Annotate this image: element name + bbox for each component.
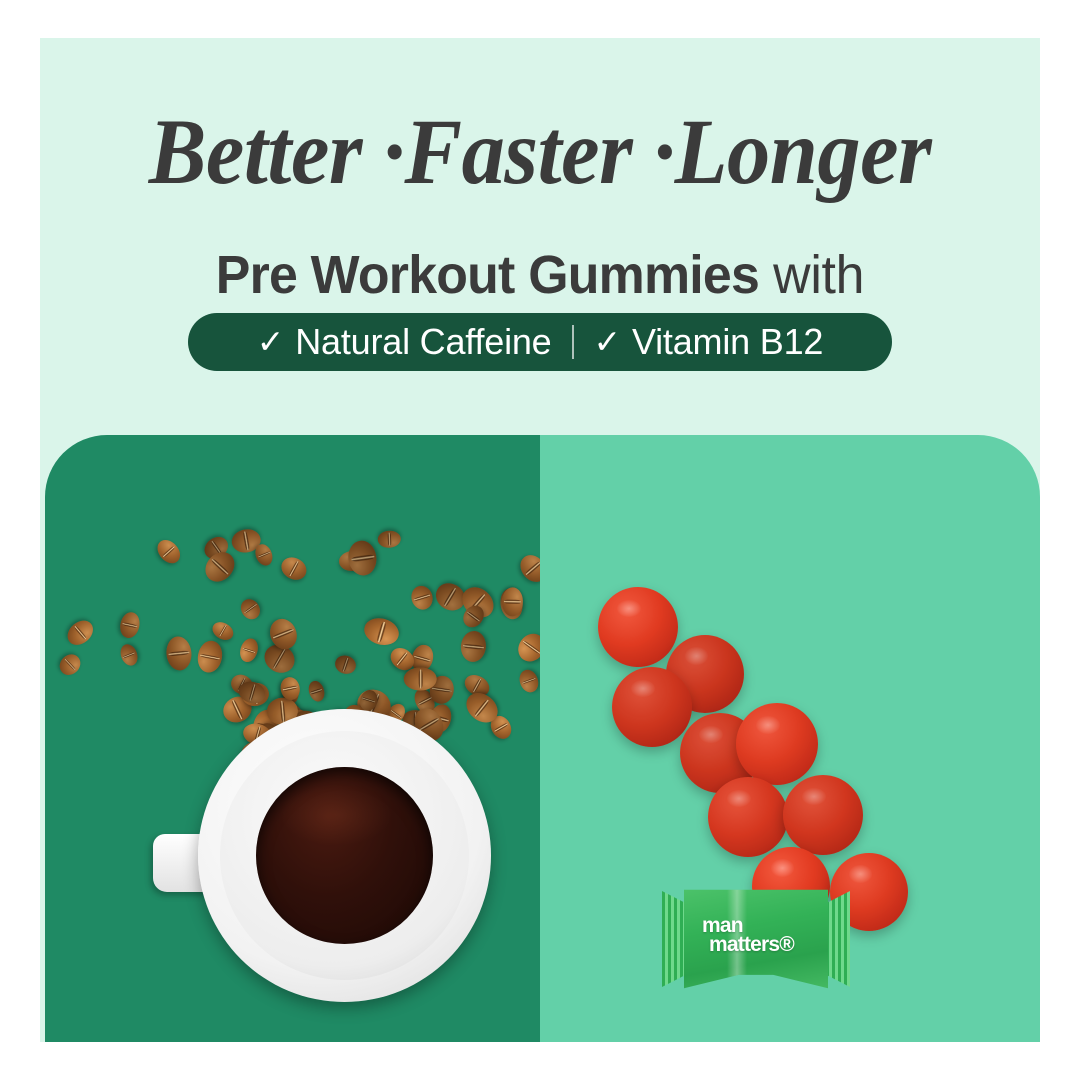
- advertisement-creative: Better ·Faster ·Longer Pre Workout Gummi…: [40, 38, 1040, 1042]
- coffee-bean: [118, 610, 142, 639]
- coffee-bean: [512, 628, 540, 666]
- coffee-bean: [237, 636, 260, 664]
- coffee-bean: [501, 587, 523, 616]
- check-icon: ✓: [594, 325, 621, 358]
- coffee-bean: [361, 615, 402, 649]
- benefit-label-caffeine: Natural Caffeine: [295, 321, 551, 363]
- coffee-liquid: [256, 767, 433, 944]
- coffee-bean: [346, 538, 379, 576]
- brand-logo: man matters®: [702, 916, 820, 955]
- coffee-cup: [198, 709, 491, 1002]
- gummy-candy: [736, 703, 818, 785]
- coffee-bean: [377, 531, 401, 549]
- benefit-item-caffeine: ✓ Natural Caffeine: [257, 321, 552, 363]
- coffee-bean: [195, 639, 224, 674]
- gummy-candy: [598, 587, 678, 667]
- subtitle-light: with: [759, 245, 864, 305]
- coffee-bean: [165, 635, 193, 671]
- coffee-bean: [277, 553, 309, 583]
- benefit-label-vitamin: Vitamin B12: [632, 321, 823, 363]
- coffee-bean: [333, 653, 358, 676]
- subtitle: Pre Workout Gummies with: [60, 248, 1020, 302]
- coffee-bean: [404, 666, 437, 690]
- coffee-surface-highlight: [281, 785, 391, 845]
- coffee-bean: [210, 619, 237, 643]
- subtitle-strong: Pre Workout Gummies: [216, 245, 759, 305]
- gummy-candy: [783, 775, 863, 855]
- gummy-candy: [612, 667, 692, 747]
- benefits-badge: ✓ Natural Caffeine ✓ Vitamin B12: [188, 313, 892, 371]
- coffee-bean: [55, 651, 84, 680]
- coffee-bean: [118, 642, 141, 668]
- benefit-item-vitamin: ✓ Vitamin B12: [594, 321, 824, 363]
- coffee-bean: [516, 550, 540, 587]
- coffee-bean: [62, 615, 97, 650]
- coffee-bean: [237, 595, 264, 623]
- coffee-bean: [252, 542, 275, 568]
- check-icon: ✓: [257, 325, 284, 358]
- coffee-bean: [459, 630, 487, 663]
- coffee-bean: [306, 679, 326, 703]
- coffee-cup-rim: [220, 731, 469, 980]
- brand-logo-line-2: matters®: [702, 935, 820, 954]
- benefit-separator: [572, 325, 574, 359]
- coffee-photo-half: [45, 435, 540, 1042]
- gummy-candy: [708, 777, 788, 857]
- product-image-panel: man matters®: [45, 435, 1040, 1042]
- page-title: Better ·Faster ·Longer: [75, 106, 1005, 199]
- coffee-bean: [408, 583, 435, 612]
- coffee-bean: [154, 536, 185, 567]
- product-sachet: man matters®: [662, 883, 850, 995]
- gummy-photo-half: man matters®: [540, 435, 1040, 1042]
- coffee-bean: [517, 666, 540, 694]
